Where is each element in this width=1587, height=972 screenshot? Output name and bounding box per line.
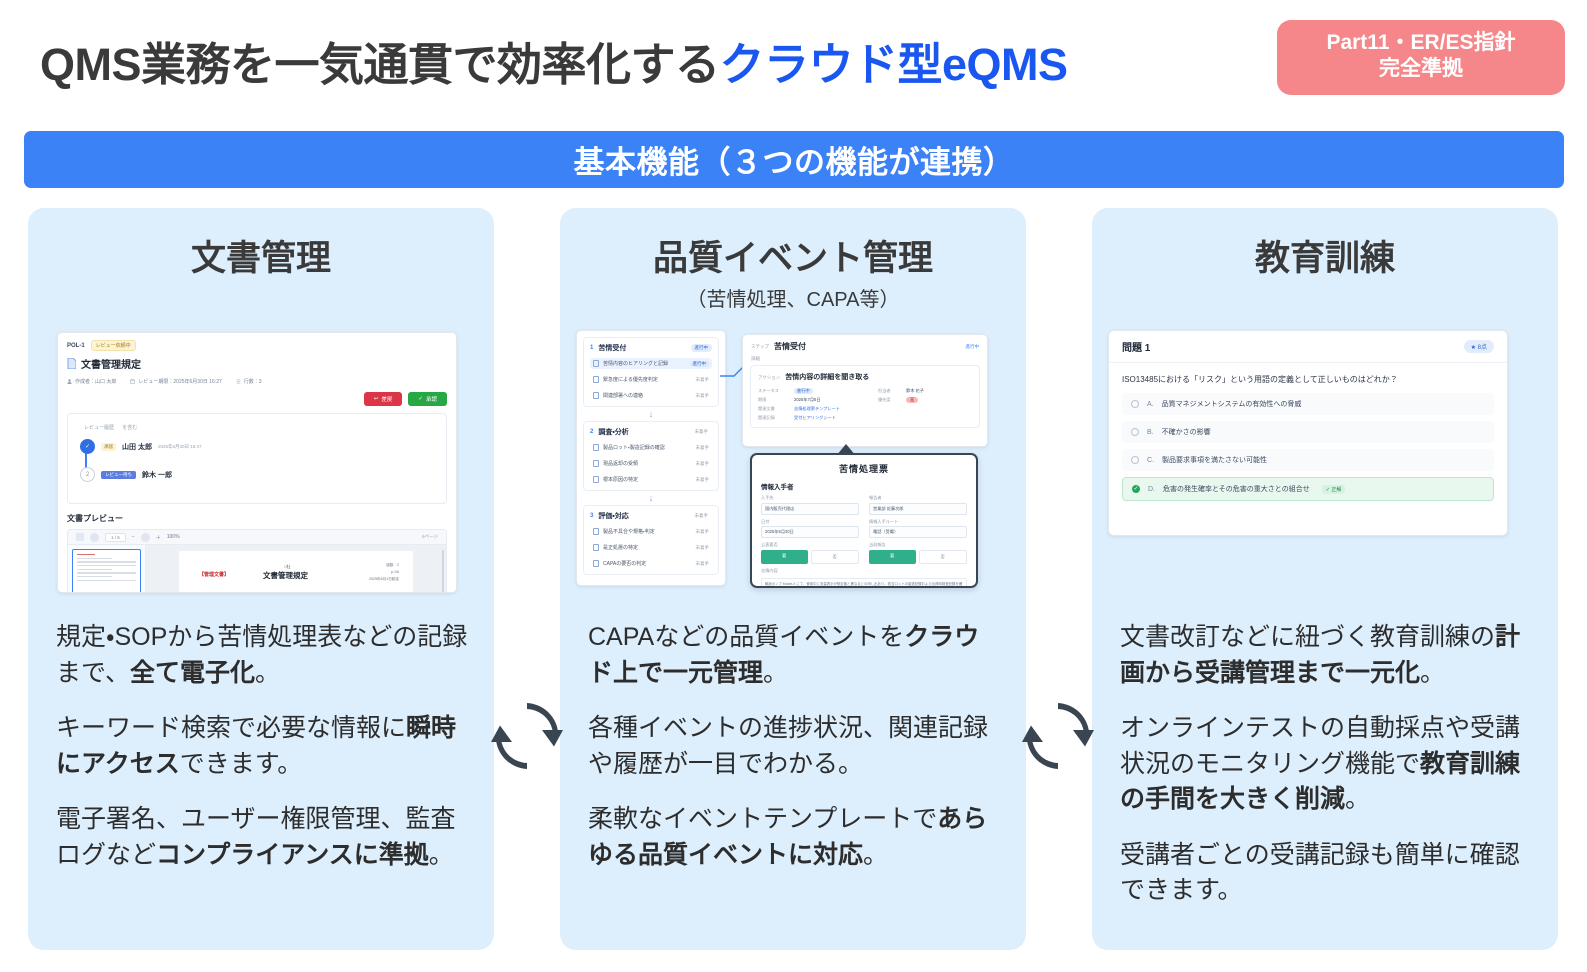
quiz-option-letter: D. [1148, 486, 1155, 493]
workflow-step-status: 進行中 [691, 344, 713, 352]
workflow-step-number: 1 [590, 345, 593, 351]
quiz-question-number: 問題 1 [1122, 339, 1150, 354]
thumb-line [77, 576, 112, 577]
quiz-question-text: ISO13485における「リスク」という用語の定義として正しいものはどれか？ [1109, 363, 1507, 393]
field-value-empty [906, 406, 946, 412]
step-action-row: アクション 苦情内容の詳細を聞き取る [758, 372, 972, 382]
radio-icon[interactable] [1131, 456, 1139, 464]
task-doc-icon [593, 360, 599, 367]
sync-arrows-icon [491, 700, 563, 772]
form-field: 報告者 営業部 佐藤次郎 [869, 495, 967, 515]
step-detail-body: アクション 苦情内容の詳細を聞き取る ステータス 進行中 担当者 鈴木 花子 期… [750, 365, 980, 428]
doc-meta-lines: 行数：3 [236, 378, 262, 385]
mockup-quiz: 問題 1 ★ 8点 ISO13485における「リスク」という用語の定義として正し… [1108, 330, 1508, 536]
thumb-line [77, 569, 112, 570]
task-label: 是正処置の特定 [603, 544, 638, 551]
step-detail-header: ステップ 苦情受付 進行中 [743, 335, 987, 352]
review-history-sub: を含む [122, 425, 137, 431]
paragraph-pre: 受講者ごとの受講記録も簡単に確認できます。 [1120, 841, 1520, 905]
workflow-task[interactable]: 現品返却の受領 未着手 [590, 458, 712, 469]
review-timeline: ✓ 承認 山田 太郎 2025年6月30日 15:47 2 レビュー待ち 鈴木 … [78, 439, 436, 482]
sync-connector-1 [491, 700, 563, 772]
pdf-zoom-level: 100% [167, 534, 180, 540]
mockup-complaint-form: 苦情処理票 情報入手者 入手先 国内販売代理店 報告者 営業部 佐藤次郎 日付 … [750, 453, 978, 588]
field-key: 担当者 [878, 388, 900, 394]
field-value-status: 進行中 [794, 388, 813, 394]
field-value-empty [906, 415, 946, 421]
mockup-step-detail: ステップ 苦情受付 進行中 詳細 アクション 苦情内容の詳細を聞き取る ステータ… [742, 334, 988, 447]
task-status: 未着手 [696, 377, 710, 383]
doc-code: POL-1 [67, 343, 85, 349]
form-toggle-group: 要 否 [761, 550, 859, 564]
paragraph-post: 。 [255, 659, 280, 687]
column-title-quality-event: 品質イベント管理 [560, 208, 1026, 281]
timeline-name: 鈴木 一郎 [142, 470, 172, 480]
pdf-page-title: 文書管理規定 [263, 570, 308, 581]
field-key: 期限 [758, 397, 788, 403]
column-body-quality-event: CAPAなどの品質イベントをクラウド上で一元管理。 各種イベントの進捗状況、関連… [588, 620, 1004, 893]
thumb-line [77, 561, 136, 562]
column-paragraph: 規定・SOPから苦情処理表などの記録まで、全て電子化。 [56, 620, 472, 691]
quiz-option[interactable]: B. 不確かさの影響 [1122, 421, 1494, 443]
compliance-badge-line1: Part11・ER/ES指針 [1283, 30, 1559, 56]
form-field-input[interactable]: 2025年6月30日 [761, 526, 859, 538]
workflow-step: 1 苦情受付 進行中 苦情内容のヒアリングと記録 進行中 緊急度による優先度判定… [583, 337, 719, 407]
workflow-task[interactable]: 苦情内容のヒアリングと記録 進行中 [590, 358, 712, 369]
reject-icon: ↩ [374, 396, 379, 402]
paragraph-pre: 各種イベントの進捗状況、関連記録や履歴が一目でわかる。 [588, 714, 988, 778]
field-key: 優先度 [878, 397, 900, 403]
quiz-option-letter: C. [1147, 457, 1154, 464]
workflow-step-title: 評価・対応 [598, 511, 628, 521]
quiz-option-text: 品質マネジメントシステムの有効性への脅威 [1162, 399, 1302, 409]
timeline-tag: 承認 [101, 443, 116, 451]
page-title-plain: QMS業務を一気通貫で効率化する [40, 39, 720, 90]
quiz-points-badge: ★ 8点 [1464, 340, 1494, 353]
task-status: 未着手 [696, 461, 710, 467]
section-band: 基本機能（３つの機能が連携） [24, 131, 1564, 188]
column-paragraph: 文書改訂などに紐づく教育訓練の計画から受講管理まで一元化。 [1120, 620, 1536, 691]
form-field-label: 当局報告 [869, 542, 967, 548]
sync-connector-2 [1022, 700, 1094, 772]
form-toggle-no[interactable]: 否 [919, 550, 968, 564]
task-label: 緊急度による優先度判定 [603, 376, 658, 383]
form-field-label: 報告者 [869, 495, 967, 501]
paragraph-pre: 柔軟なイベントテンプレートで [588, 805, 937, 833]
pdf-page-date: 2025年6月1日制定 [369, 577, 399, 581]
reject-button-label: 差戻 [381, 395, 392, 403]
column-subtitle-quality-event: （苦情処理、CAPA等） [560, 283, 1026, 312]
workflow-task[interactable]: 製品不具合や規格・判定 未着手 [590, 526, 712, 537]
sync-arrows-icon [1022, 700, 1094, 772]
form-field: 情報入手ルート 電話（受電） [869, 519, 967, 539]
quiz-correct-tag: ✓ 正解 [1322, 485, 1346, 494]
doc-meta-lines-text: 行数：3 [244, 378, 262, 385]
workflow-task[interactable]: 緊急度による優先度判定 未着手 [590, 374, 712, 385]
workflow-task[interactable]: 関連部署への連絡 未着手 [590, 390, 712, 401]
page-header: QMS業務を一気通貫で効率化するクラウド型eQMS Part11・ER/ES指針… [0, 0, 1587, 118]
form-toggle-yes[interactable]: 要 [869, 550, 916, 564]
paragraph-post: 。 [863, 841, 888, 869]
quiz-option-text: 不確かさの影響 [1162, 427, 1211, 437]
timeline-name: 山田 太郎 [122, 442, 152, 452]
mockup-workflow-steps: 1 苦情受付 進行中 苦情内容のヒアリングと記録 進行中 緊急度による優先度判定… [576, 330, 726, 586]
field-key-empty [878, 415, 900, 421]
timeline-tag: レビュー待ち [101, 471, 136, 479]
column-title-document: 文書管理 [28, 208, 494, 281]
column-body-training: 文書改訂などに紐づく教育訓練の計画から受講管理まで一元化。 オンラインテストの自… [1120, 620, 1536, 929]
paragraph-bold: 全て電子化 [130, 659, 255, 687]
feature-column-training: 教育訓練 問題 1 ★ 8点 ISO13485における「リスク」という用語の定義… [1092, 208, 1558, 950]
workflow-task[interactable]: 是正処置の特定 未着手 [590, 542, 712, 553]
feature-columns: 文書管理 POL-1 レビュー依頼中 文書管理規定 [0, 208, 1587, 958]
paragraph-post: 。 [763, 659, 788, 687]
list-icon [236, 379, 241, 384]
task-label: 関連部署への連絡 [603, 392, 643, 399]
task-doc-icon [593, 544, 599, 551]
quiz-option-text: 製品要求事項を満たさない可能性 [1162, 455, 1267, 465]
workflow-task[interactable]: 根本原因の特定 未着手 [590, 474, 712, 485]
form-field-toggle: 公表要否 要 否 [761, 542, 859, 564]
task-status: 未着手 [696, 529, 710, 535]
paragraph-post: 。 [429, 841, 454, 869]
pdf-zoom-in-icon[interactable]: ＋ [156, 534, 161, 541]
column-paragraph: オンラインテストの自動採点や受講状況のモニタリング機能で教育訓練の手間を大きく削… [1120, 711, 1536, 818]
field-key-empty [878, 406, 900, 412]
mockup-document-detail: POL-1 レビュー依頼中 文書管理規定 作成者：山口 太郎 [57, 332, 457, 593]
timeline-done-icon: ✓ [80, 439, 95, 454]
column-paragraph: 各種イベントの進捗状況、関連記録や履歴が一目でわかる。 [588, 711, 1004, 782]
quiz-option-letter: A. [1147, 401, 1154, 408]
step-field-grid: ステータス 進行中 担当者 鈴木 花子 期限 2025年7月5日 優先度 高 関… [758, 388, 972, 421]
workflow-arrow-down-icon: ↓ [583, 493, 719, 503]
task-status: 未着手 [696, 445, 710, 451]
check-circle-icon [1132, 485, 1140, 493]
paragraph-pre: 文書改訂などに紐づく教育訓練の [1120, 623, 1495, 651]
calendar-icon [130, 379, 135, 384]
task-doc-icon [593, 528, 599, 535]
doc-status-pill: レビュー依頼中 [91, 340, 136, 351]
page-title: QMS業務を一気通貫で効率化するクラウド型eQMS [40, 28, 1068, 93]
timeline-item: 2 レビュー待ち 鈴木 一郎 [80, 467, 436, 482]
quiz-option[interactable]: C. 製品要求事項を満たさない可能性 [1122, 449, 1494, 471]
quiz-option-text: 危害の発生確率とその危害の重大さとの組合せ [1163, 484, 1310, 494]
column-paragraph: 受講者ごとの受講記録も簡単に確認できます。 [1120, 838, 1536, 909]
complaint-form-section: 情報入手者 [761, 481, 967, 491]
task-doc-icon [593, 460, 599, 467]
workflow-step: 3 評価・対応 未着手 製品不具合や規格・判定 未着手 是正処置の特定 未着手 [583, 505, 719, 575]
pdf-search-icon[interactable] [90, 533, 99, 542]
review-history-card: レビュー履歴 を含む ✓ 承認 山田 太郎 2025年6月30日 15:47 [67, 413, 447, 504]
form-field-input[interactable]: 電話（受電） [869, 526, 967, 538]
column-paragraph: キーワード検索で必要な情報に瞬時にアクセスできます。 [56, 711, 472, 782]
paragraph-post: 。 [1345, 785, 1370, 813]
paragraph-bold: コンプライアンスに準拠 [156, 841, 429, 869]
doc-meta-deadline-text: レビュー期限：2025年6月30日 16:27 [138, 378, 221, 385]
timeline-time: 2025年6月30日 15:47 [158, 444, 202, 450]
thumb-line [77, 580, 136, 581]
task-doc-icon [593, 376, 599, 383]
step-detail-title: 苦情受付 [774, 341, 806, 352]
workflow-step-header: 1 苦情受付 進行中 [590, 343, 712, 353]
paragraph-pre: キーワード検索で必要な情報に [56, 714, 406, 742]
task-status: 未着手 [696, 477, 710, 483]
thumb-line [77, 572, 136, 573]
step-detail-label: ステップ [751, 344, 769, 350]
doc-meta-deadline: レビュー期限：2025年6月30日 16:27 [130, 378, 221, 385]
timeline-pending-icon: 2 [80, 467, 95, 482]
approve-button[interactable]: ✓ 承認 [408, 392, 447, 406]
pdf-thumbnail[interactable] [72, 549, 141, 593]
step-action-label: アクション [758, 375, 780, 381]
pdf-page-current: 1 [111, 535, 114, 540]
doc-action-buttons: ↩ 差戻 ✓ 承認 [67, 392, 447, 406]
pdf-page-version: 版数：2 [386, 563, 399, 567]
task-doc-icon [593, 444, 599, 451]
doc-meta-row: 作成者：山口 太郎 レビュー期限：2025年6月30日 16:27 行数：3 [67, 378, 447, 385]
pdf-page-meta: 版数：2 p.1/6 2025年6月1日制定 [369, 562, 399, 584]
doc-meta-author-text: 作成者：山口 太郎 [75, 378, 116, 385]
reject-button[interactable]: ↩ 差戻 [364, 392, 403, 406]
thumb-line [77, 558, 112, 559]
workflow-step-header: 3 評価・対応 未着手 [590, 511, 712, 521]
form-field: 日付 2025年6月30日 [761, 519, 859, 539]
pdf-toolbar: 1 / 6 − ＋ 100% 6ページ [67, 529, 447, 545]
workflow-arrow-down-icon: ↓ [583, 409, 719, 419]
review-history-title: レビュー履歴 を含む [78, 422, 436, 431]
quiz-header: 問題 1 ★ 8点 [1109, 331, 1507, 363]
user-icon [67, 379, 72, 384]
field-key: 関連文書 [758, 406, 788, 412]
radio-icon[interactable] [1131, 400, 1139, 408]
field-value: 鈴木 花子 [906, 388, 946, 394]
form-field-label: 日付 [761, 519, 859, 525]
task-label: 製品不具合や規格・判定 [603, 528, 655, 535]
step-action-value: 苦情内容の詳細を聞き取る [785, 372, 869, 382]
form-field-label: 公表要否 [761, 542, 859, 548]
paragraph-post: 。 [1420, 659, 1445, 687]
workflow-step-number: 3 [590, 513, 593, 519]
task-doc-icon [593, 476, 599, 483]
workflow-step-title: 苦情受付 [598, 343, 626, 353]
form-field-toggle: 当局報告 要 否 [869, 542, 967, 564]
thumb-line [77, 565, 136, 566]
complaint-desc-label: 苦情内容 [761, 568, 967, 574]
pdf-thumbnail-panel[interactable] [68, 545, 146, 593]
task-doc-icon [593, 560, 599, 567]
complaint-form-title: 苦情処理票 [761, 462, 967, 475]
column-paragraph: 電子署名、ユーザー権限管理、監査ログなどコンプライアンスに準拠。 [56, 802, 472, 873]
step-detail-section: 詳細 [743, 352, 987, 365]
field-value-link[interactable]: 苦情処理票テンプレート [794, 406, 872, 412]
feature-column-quality-event: 品質イベント管理 （苦情処理、CAPA等） 1 苦情受付 進行中 苦情内容のヒア… [560, 208, 1026, 950]
pdf-page-total: / 6 [115, 535, 120, 540]
pdf-zoom-reset-icon[interactable] [141, 533, 150, 542]
task-status: 未着手 [696, 393, 710, 399]
check-icon: ✓ [418, 396, 423, 402]
preview-title: 文書プレビュー [67, 513, 447, 524]
infographic-page: QMS業務を一気通貫で効率化するクラウド型eQMS Part11・ER/ES指針… [0, 0, 1587, 972]
column-title-training: 教育訓練 [1092, 208, 1558, 281]
pdf-page-number: p.1/6 [391, 570, 399, 574]
approve-button-label: 承認 [426, 395, 437, 403]
field-value: 2025年7月5日 [794, 397, 872, 403]
task-status: 未着手 [696, 545, 710, 551]
pdf-page-area: 【管理文書】 □社 文書管理規定 版数：2 p.1/6 2025年6月1日制定 [146, 545, 446, 593]
timeline-item: ✓ 承認 山田 太郎 2025年6月30日 15:47 [80, 439, 436, 454]
feature-column-document: 文書管理 POL-1 レビュー依頼中 文書管理規定 [28, 208, 494, 950]
pdf-page-sheet: 【管理文書】 □社 文書管理規定 版数：2 p.1/6 2025年6月1日制定 [179, 551, 413, 593]
task-label: CAPAの要否の判定 [603, 560, 646, 567]
paragraph-pre: CAPAなどの品質イベントを [588, 623, 904, 651]
section-band-label: 基本機能（３つの機能が連携） [574, 137, 1015, 182]
task-status: 未着手 [696, 561, 710, 567]
review-history-title-text: レビュー履歴 [84, 425, 114, 431]
pdf-zoom-out-icon[interactable]: − [132, 534, 135, 540]
column-paragraph: CAPAなどの品質イベントをクラウド上で一元管理。 [588, 620, 1004, 691]
pdf-page-count: 6ページ [422, 534, 438, 540]
page-title-accent: クラウド型eQMS [720, 39, 1068, 90]
workflow-task[interactable]: CAPAの要否の判定 未着手 [590, 558, 712, 569]
form-field: 入手先 国内販売代理店 [761, 495, 859, 515]
task-label: 苦情内容のヒアリングと記録 [603, 360, 668, 367]
quiz-option[interactable]: A. 品質マネジメントシステムの有効性への脅威 [1122, 393, 1494, 415]
field-value-link[interactable]: 受付ヒアリングシート [794, 415, 872, 421]
workflow-step-title: 調査・分析 [598, 427, 628, 437]
pdf-page-input[interactable]: 1 / 6 [105, 533, 126, 542]
pdf-sidebar-toggle-icon[interactable] [76, 533, 84, 541]
complaint-form-grid: 入手先 国内販売代理店 報告者 営業部 佐藤次郎 日付 2025年6月30日 情… [761, 495, 967, 564]
form-toggle-no[interactable]: 否 [811, 550, 860, 564]
workflow-step-number: 2 [590, 429, 593, 435]
task-status: 進行中 [690, 361, 710, 367]
form-toggle-yes[interactable]: 要 [761, 550, 808, 564]
field-key: ステータス [758, 388, 788, 394]
workflow-step: 2 調査・分析 未着手 製品ロット・製造記録の確認 未着手 現品返却の受領 未着… [583, 421, 719, 491]
doc-id-row: POL-1 レビュー依頼中 [67, 340, 447, 351]
compliance-badge: Part11・ER/ES指針 完全準拠 [1277, 20, 1565, 95]
task-label: 根本原因の特定 [603, 476, 638, 483]
pdf-controlled-stamp: 【管理文書】 [199, 571, 229, 578]
quiz-option-correct[interactable]: D. 危害の発生確率とその危害の重大さとの組合せ ✓ 正解 [1122, 477, 1494, 501]
form-field-input[interactable]: 国内販売代理店 [761, 503, 859, 515]
workflow-step-status: 未着手 [691, 428, 713, 436]
form-field-input[interactable]: 営業部 佐藤次郎 [869, 503, 967, 515]
workflow-step-header: 2 調査・分析 未着手 [590, 427, 712, 437]
form-field-label: 情報入手ルート [869, 519, 967, 525]
column-paragraph: 柔軟なイベントテンプレートであらゆる品質イベントに対応。 [588, 802, 1004, 873]
workflow-task[interactable]: 製品ロット・製造記録の確認 未着手 [590, 442, 712, 453]
compliance-badge-line2: 完全準拠 [1283, 56, 1559, 82]
step-detail-status: 進行中 [966, 344, 980, 350]
paragraph-post: できます。 [180, 750, 303, 778]
field-value-priority: 高 [906, 397, 918, 403]
doc-title-row: 文書管理規定 [67, 356, 447, 371]
task-label: 製品ロット・製造記録の確認 [603, 444, 665, 451]
pdf-scrollbar[interactable] [442, 550, 444, 593]
radio-icon[interactable] [1131, 428, 1139, 436]
doc-title: 文書管理規定 [81, 356, 141, 371]
document-icon [67, 358, 76, 369]
doc-meta-author: 作成者：山口 太郎 [67, 378, 116, 385]
form-field-label: 入手先 [761, 495, 859, 501]
form-toggle-group: 要 否 [869, 550, 967, 564]
pdf-body: 【管理文書】 □社 文書管理規定 版数：2 p.1/6 2025年6月1日制定 [67, 545, 447, 593]
complaint-desc-text[interactable]: 輸液ポンプ Model-X にて、使用中に流量表示が設定値と異なるとの申し出あり… [761, 578, 967, 589]
task-label: 現品返却の受領 [603, 460, 638, 467]
column-body-document: 規定・SOPから苦情処理表などの記録まで、全て電子化。 キーワード検索で必要な情… [56, 620, 472, 893]
thumb-line [77, 554, 95, 555]
workflow-step-status: 未着手 [691, 512, 713, 520]
quiz-option-letter: B. [1147, 429, 1154, 436]
task-doc-icon [593, 392, 599, 399]
field-key: 関連記録 [758, 415, 788, 421]
